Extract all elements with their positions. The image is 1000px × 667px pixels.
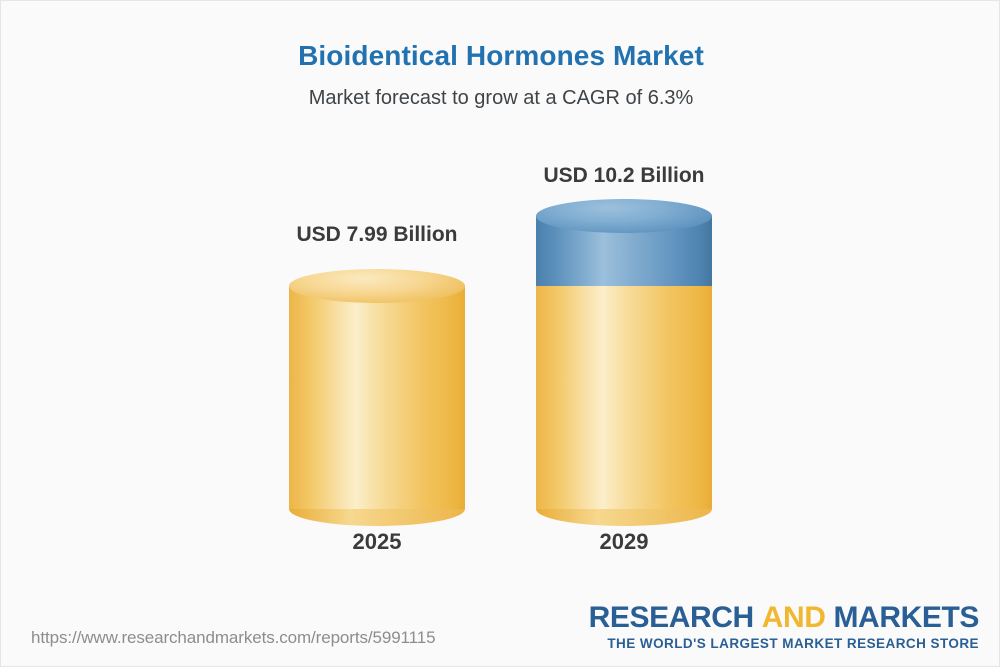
value-label-2029: USD 10.2 Billion: [536, 164, 712, 188]
cylinder-2029: [536, 199, 712, 509]
category-label-2025: 2025: [289, 529, 465, 555]
category-label-2029: 2029: [536, 529, 712, 555]
logo-wordmark: RESEARCH AND MARKETS: [589, 602, 979, 634]
bar-group-2025: USD 7.99 Billion 2025: [289, 141, 465, 571]
logo-word-research: RESEARCH: [589, 601, 754, 634]
bar-segment-gold-2025: [289, 269, 465, 509]
cylinder-top-cap: [289, 269, 465, 303]
chart-canvas: Bioidentical Hormones Market Market fore…: [0, 0, 1000, 667]
chart-subtitle: Market forecast to grow at a CAGR of 6.3…: [1, 73, 1000, 110]
cylinder-body: [536, 269, 712, 509]
page-title: Bioidentical Hormones Market: [1, 1, 1000, 73]
cylinder-body: [289, 286, 465, 509]
source-url[interactable]: https://www.researchandmarkets.com/repor…: [31, 628, 435, 648]
cylinder-2025: [289, 269, 465, 509]
logo-word-markets: MARKETS: [833, 601, 979, 634]
bar-segment-gold-2029: [536, 269, 712, 509]
brand-logo[interactable]: RESEARCH AND MARKETS THE WORLD'S LARGEST…: [589, 602, 979, 652]
logo-tagline: THE WORLD'S LARGEST MARKET RESEARCH STOR…: [589, 636, 979, 652]
value-label-2025: USD 7.99 Billion: [289, 223, 465, 247]
bar-segment-blue-2029: [536, 199, 712, 286]
plot-area: USD 7.99 Billion 2025 USD 10.2 Billion: [1, 141, 1000, 571]
bar-group-2029: USD 10.2 Billion 2029: [536, 141, 712, 571]
cylinder-top-cap: [536, 199, 712, 233]
logo-word-and: AND: [762, 601, 826, 634]
chart-header: Bioidentical Hormones Market Market fore…: [1, 1, 1000, 110]
chart-footer: https://www.researchandmarkets.com/repor…: [1, 584, 1000, 666]
